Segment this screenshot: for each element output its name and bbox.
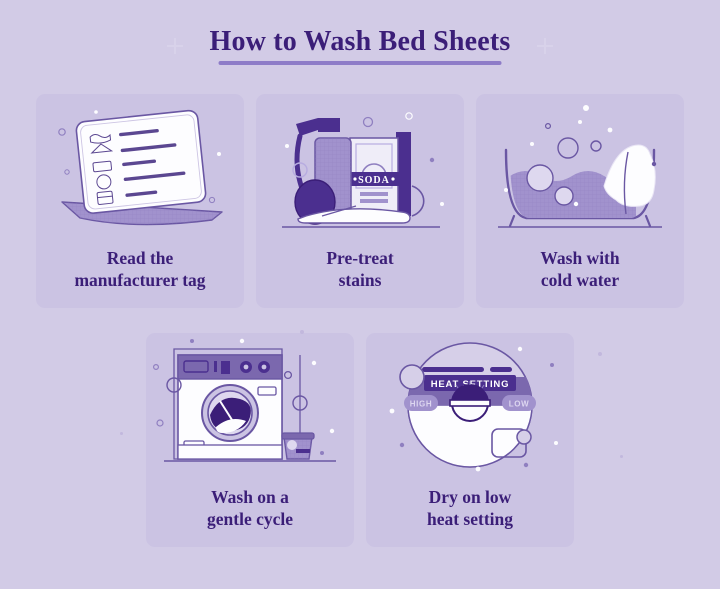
step-caption: Dry on low heat setting xyxy=(419,481,521,547)
dryer-heat-dial-illustration: HEAT SETTING HIGH LOW xyxy=(366,333,574,481)
soda-box-label: SODA xyxy=(358,175,390,186)
option-high-label: HIGH xyxy=(410,399,432,408)
spray-bottle-and-soda-box-illustration: SODA xyxy=(256,94,464,242)
page-title-wrap: How to Wash Bed Sheets xyxy=(209,28,510,65)
background-dot xyxy=(598,352,602,356)
option-low-label: LOW xyxy=(509,399,529,408)
steps-row-bottom: Wash on a gentle cycle HEAT SETTING HIGH xyxy=(0,333,720,547)
bathtub-with-bubbles-illustration xyxy=(476,94,684,242)
step-card-read-manufacturer-tag[interactable]: Read the manufacturer tag xyxy=(36,94,244,308)
step-caption: Wash with cold water xyxy=(532,242,627,308)
steps-row-top: Read the manufacturer tag SODA xyxy=(0,94,720,308)
step-caption: Pre-treat stains xyxy=(318,242,401,308)
step-card-wash-with-cold-water[interactable]: Wash with cold water xyxy=(476,94,684,308)
step-card-wash-gentle-cycle[interactable]: Wash on a gentle cycle xyxy=(146,333,354,547)
background-dot xyxy=(620,455,623,458)
step-card-pre-treat-stains[interactable]: SODA xyxy=(256,94,464,308)
plus-decoration-icon xyxy=(537,38,553,54)
background-dot xyxy=(120,432,123,435)
step-card-dry-low-heat[interactable]: HEAT SETTING HIGH LOW xyxy=(366,333,574,547)
page-title: How to Wash Bed Sheets xyxy=(209,28,510,56)
title-underline xyxy=(219,61,502,65)
step-caption: Read the manufacturer tag xyxy=(66,242,213,308)
washing-machine-illustration xyxy=(146,333,354,481)
step-caption: Wash on a gentle cycle xyxy=(199,481,301,547)
care-label-tag-illustration xyxy=(36,94,244,242)
header: How to Wash Bed Sheets xyxy=(0,0,720,92)
plus-decoration-icon xyxy=(167,38,183,54)
